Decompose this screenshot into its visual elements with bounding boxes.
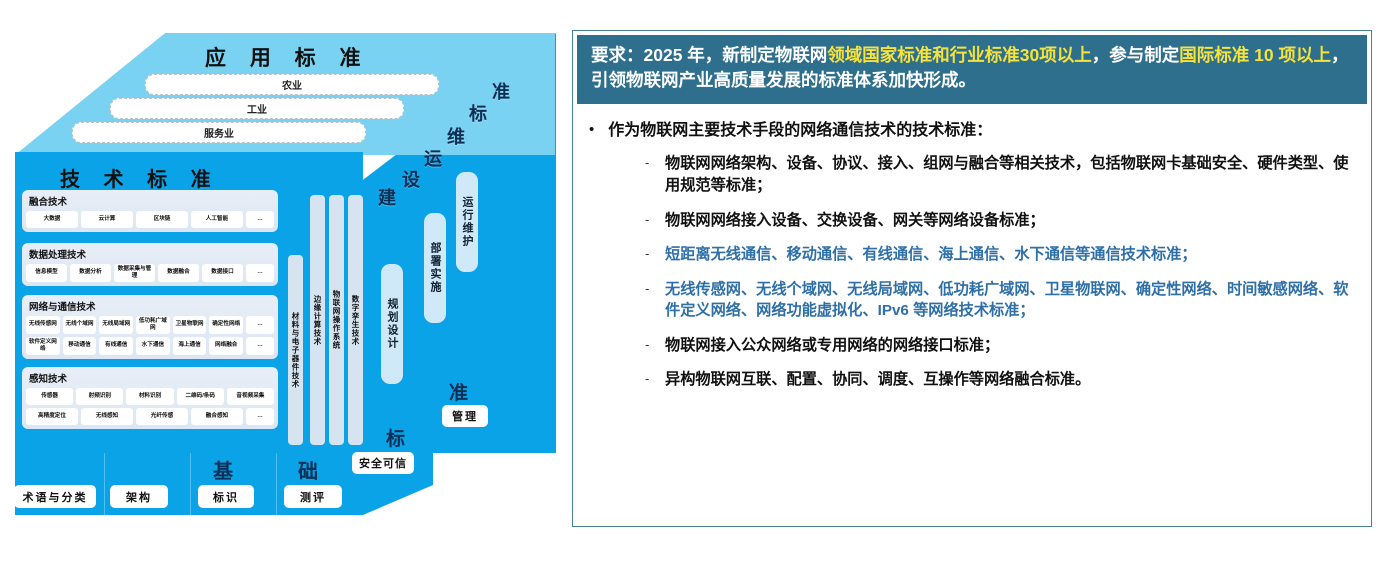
tech-chip: 信息模型 [26, 264, 67, 282]
bullet-level2: -物联网网络架构、设备、协议、接入、组网与融合等相关技术，包括物联网卡基础安全、… [645, 153, 1353, 196]
application-bar-agriculture: 农业 [145, 74, 439, 95]
tech-chip: 海上通信 [173, 337, 207, 355]
tech-chip: 无线局域网 [99, 316, 133, 334]
tech-chip: 大数据 [26, 211, 78, 228]
technical-standards-title: 技 术 标 准 [60, 163, 220, 192]
bullet-dash-icon: - [645, 279, 653, 299]
application-bar-industry: 工业 [110, 98, 404, 119]
tech-chip: 区块链 [136, 211, 188, 228]
base-divider [190, 453, 191, 515]
application-bar-services: 服务业 [72, 122, 366, 143]
tech-chip: 材料识别 [126, 388, 173, 405]
tech-chip: 二维码/条码 [177, 388, 224, 405]
side-chip-operation-maintenance: 运行维护 [456, 172, 478, 272]
tech-group-title: 感知技术 [29, 371, 274, 385]
base-divider [276, 453, 277, 515]
pillar-edge-computing: 边缘计算技术 [310, 195, 325, 445]
tech-chip: 网络融合 [209, 337, 243, 355]
tech-group-title: 数据处理技术 [29, 247, 274, 261]
mgmt-title-char-1: 准 [449, 378, 468, 405]
tech-chip: 卫星物联网 [173, 316, 207, 334]
base-divider [104, 453, 105, 515]
bullet-level2: -无线传感网、无线个域网、无线局域网、低功耗广域网、卫星物联网、确定性网络、时间… [645, 279, 1353, 322]
tech-chip: 数据融合 [158, 264, 199, 282]
tech-group-title: 融合技术 [29, 194, 274, 208]
tech-chip: 云计算 [81, 211, 133, 228]
tech-chip: 无线传感网 [26, 316, 60, 334]
tech-chip: 融合感知 [191, 408, 243, 425]
tech-chip: 射频识别 [76, 388, 123, 405]
callout-plain-text: 要求：2025 年，新制定物联网 [591, 45, 827, 65]
iot-standards-cube-diagram: 应 用 标 准 农业 工业 服务业 建 设 运 维 标 准 规划设计 部署实施 … [0, 0, 566, 564]
mgmt-chip-management: 管理 [442, 405, 488, 427]
bullet-dash-icon: - [645, 369, 653, 389]
tech-chip: 确定性网络 [209, 316, 243, 334]
tech-chip: 水下通信 [136, 337, 170, 355]
tech-chip: 数据接口 [202, 264, 243, 282]
bullet-level1: • 作为物联网主要技术手段的网络通信技术的技术标准： [589, 120, 1353, 142]
bullet-level2-text: 短距离无线通信、移动通信、有线通信、海上通信、水下通信等通信技术标准； [665, 244, 1197, 266]
base-chip-terminology: 术语与分类 [14, 485, 96, 508]
bullet-list: • 作为物联网主要技术手段的网络通信技术的技术标准： -物联网网络架构、设备、协… [573, 108, 1371, 391]
tech-chip-row: 信息模型 数据分析 数据采集与管理 数据融合 数据接口 … [26, 264, 274, 282]
application-standards-title: 应 用 标 准 [205, 42, 370, 72]
tech-chip-more: … [246, 264, 274, 282]
tech-chip: 高精度定位 [26, 408, 78, 425]
tech-chip: 人工智能 [191, 211, 243, 228]
tech-chip: 光纤传感 [136, 408, 188, 425]
callout-plain-text: ，参与制定 [1092, 45, 1180, 65]
side-title-char-1: 设 [402, 166, 420, 192]
callout-highlight-text: 国际标准 10 项以上 [1179, 45, 1331, 65]
base-chip-identification: 标识 [198, 485, 254, 508]
tech-group-fusion: 融合技术 大数据 云计算 区块链 人工智能 … [22, 190, 278, 232]
tech-chip-more: … [246, 211, 274, 228]
bullet-level2-text: 无线传感网、无线个域网、无线局域网、低功耗广域网、卫星物联网、确定性网络、时间敏… [665, 279, 1353, 322]
bullet-dash-icon: - [645, 244, 653, 264]
side-chip-planning-design: 规划设计 [381, 264, 403, 384]
tech-chip-row: 高精度定位 无线感知 光纤传感 融合感知 … [26, 408, 274, 425]
side-chip-deployment: 部署实施 [424, 213, 446, 323]
bullet-level2: -短距离无线通信、移动通信、有线通信、海上通信、水下通信等通信技术标准； [645, 244, 1353, 266]
tech-group-network-communication: 网络与通信技术 无线传感网 无线个域网 无线局域网 低功耗广域网 卫星物联网 确… [22, 295, 278, 359]
bullet-level1-text: 作为物联网主要技术手段的网络通信技术的技术标准： [608, 120, 992, 142]
tech-chip: 无线感知 [81, 408, 133, 425]
side-title-char-2: 运 [424, 145, 442, 171]
tech-chip: 软件定义网络 [26, 337, 60, 355]
base-chip-architecture: 架构 [110, 485, 168, 508]
pillar-digital-twin: 数字孪生技术 [348, 195, 363, 445]
tech-chip: 数据分析 [70, 264, 111, 282]
side-title-char-4: 标 [469, 100, 487, 126]
side-title-char-5: 准 [492, 78, 510, 104]
tech-chip: 传感器 [26, 388, 73, 405]
base-chip-evaluation: 测评 [284, 485, 342, 508]
base-title-char-1: 础 [298, 455, 318, 484]
bullet-level2: -物联网网络接入设备、交换设备、网关等网络设备标准； [645, 210, 1353, 232]
callout-banner: 要求：2025 年，新制定物联网领域国家标准和行业标准30项以上，参与制定国际标… [577, 35, 1367, 104]
callout-text: 要求：2025 年，新制定物联网领域国家标准和行业标准30项以上，参与制定国际标… [591, 43, 1355, 94]
tech-chip-more: … [246, 408, 274, 425]
callout-highlight-text: 领域国家标准和行业标准30项以上 [827, 45, 1091, 65]
security-trust-chip: 安全可信 [352, 452, 414, 474]
tech-chip-more: … [246, 316, 274, 334]
tech-chip: 移动通信 [63, 337, 97, 355]
bullet-level2-text: 物联网网络接入设备、交换设备、网关等网络设备标准； [665, 210, 1045, 232]
bullet-dash-icon: - [645, 335, 653, 355]
tech-chip: 数据采集与管理 [114, 264, 155, 282]
side-title-char-0: 建 [378, 184, 396, 210]
tech-chip: 音视频采集 [227, 388, 274, 405]
bullet-level2-text: 物联网接入公众网络或专用网络的网络接口标准； [665, 335, 999, 357]
tech-chip-row: 软件定义网络 移动通信 有线通信 水下通信 海上通信 网络融合 … [26, 337, 274, 355]
tech-chip-row: 大数据 云计算 区块链 人工智能 … [26, 211, 274, 228]
tech-group-title: 网络与通信技术 [29, 299, 274, 313]
pillar-materials-electronics: 材料与电子器件技术 [288, 255, 303, 445]
tech-group-data-processing: 数据处理技术 信息模型 数据分析 数据采集与管理 数据融合 数据接口 … [22, 243, 278, 286]
tech-chip: 低功耗广域网 [136, 316, 170, 334]
bullet-level2: -物联网接入公众网络或专用网络的网络接口标准； [645, 335, 1353, 357]
tech-chip-row: 传感器 射频识别 材料识别 二维码/条码 音视频采集 [26, 388, 274, 405]
bullet-dot-icon: • [589, 120, 594, 140]
bullet-dash-icon: - [645, 153, 653, 173]
tech-chip-row: 无线传感网 无线个域网 无线局域网 低功耗广域网 卫星物联网 确定性网络 … [26, 316, 274, 334]
tech-chip: 无线个域网 [63, 316, 97, 334]
bullet-dash-icon: - [645, 210, 653, 230]
bullet-level2-text: 物联网网络架构、设备、协议、接入、组网与融合等相关技术，包括物联网卡基础安全、硬… [665, 153, 1353, 196]
requirements-panel: 要求：2025 年，新制定物联网领域国家标准和行业标准30项以上，参与制定国际标… [572, 30, 1372, 527]
pillar-iot-operating-system: 物联网操作系统 [329, 195, 344, 445]
tech-group-perception: 感知技术 传感器 射频识别 材料识别 二维码/条码 音视频采集 高精度定位 无线… [22, 367, 278, 429]
base-title-char-0: 基 [213, 455, 233, 484]
side-title-char-3: 维 [447, 123, 465, 149]
sub-bullet-container: -物联网网络架构、设备、协议、接入、组网与融合等相关技术，包括物联网卡基础安全、… [589, 153, 1353, 391]
bullet-level2: -异构物联网互联、配置、协同、调度、互操作等网络融合标准。 [645, 369, 1353, 391]
tech-chip-more: … [246, 337, 274, 355]
bullet-level2-text: 异构物联网互联、配置、协同、调度、互操作等网络融合标准。 [665, 369, 1090, 391]
tech-chip: 有线通信 [99, 337, 133, 355]
